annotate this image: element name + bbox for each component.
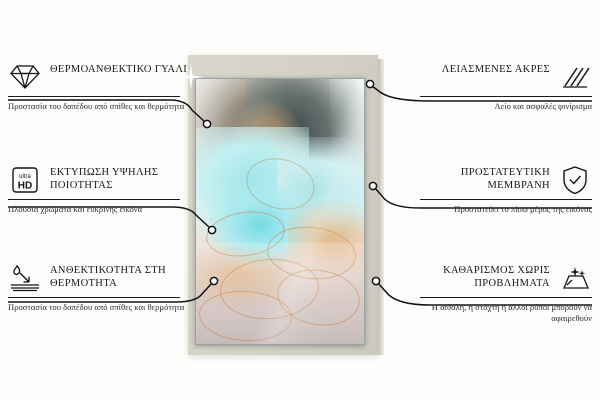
feature-description: Προστασία του δαπέδου από σπίθες και θερ… [8, 302, 190, 313]
feature-description: Η αιθάλη, η στάχτη ή άλλοι ρύποι μπορούν… [410, 302, 592, 324]
feature-title: ΑΝΘΕΚΤΙΚΟΤΗΤΑ ΣΤΗ ΘΕΡΜΟΤΗΤΑ [50, 263, 190, 290]
divider [8, 96, 180, 97]
feature-description: Προστατεύει το πίσω μέρος της εικόνας [410, 204, 592, 215]
feature-heat-resistant-glass[interactable]: ΘΕΡΜΟΑΝΘΕΚΤΙΚΟ ΓΥΑΛΙ Προστασία του δαπέδ… [8, 62, 190, 112]
feature-description: Πλούσια χρώματα και ευκρινής εικόνα [8, 204, 190, 215]
infographic-canvas: ΘΕΡΜΟΑΝΘΕΚΤΙΚΟ ΓΥΑΛΙ Προστασία του δαπέδ… [0, 0, 600, 400]
feature-description: Προστασία του δαπέδου από σπίθες και θερ… [8, 101, 190, 112]
feature-title: ΘΕΡΜΟΑΝΘΕΚΤΙΚΟ ΓΥΑΛΙ [50, 62, 187, 77]
feature-description: Λείο και ασφαλές φινίρισμα [410, 101, 592, 112]
ultra-hd-icon: ultra HD [8, 165, 42, 195]
divider [420, 96, 592, 97]
feature-heat-durability[interactable]: ΑΝΘΕΚΤΙΚΟΤΗΤΑ ΣΤΗ ΘΕΡΜΟΤΗΤΑ Προστασία το… [8, 263, 190, 313]
feature-protective-film[interactable]: ΠΡΟΣΤΑΤΕΥΤΙΚΗ ΜΕΜΒΡΑΝΗ Προστατεύει το πί… [410, 165, 592, 215]
glass-reflection [196, 79, 364, 344]
flame-deflect-icon [8, 263, 42, 293]
feature-high-quality-print[interactable]: ultra HD ΕΚΤΥΠΩΣΗ ΥΨΗΛΗΣ ΠΟΙΟΤΗΤΑΣ Πλούσ… [8, 165, 190, 215]
feature-title: ΕΚΤΥΠΩΣΗ ΥΨΗΛΗΣ ΠΟΙΟΤΗΤΑΣ [50, 165, 190, 192]
svg-text:HD: HD [18, 181, 32, 192]
diamond-icon [8, 62, 42, 92]
glass-reflection-secondary [196, 243, 364, 301]
product-artwork [196, 79, 364, 344]
feature-polished-edges[interactable]: ΛΕΙΑΣΜΕΝΕΣ ΑΚΡΕΣ Λείο και ασφαλές φινίρι… [410, 62, 592, 112]
sparkle-clean-icon [558, 263, 592, 293]
feature-title: ΠΡΟΣΤΑΤΕΥΤΙΚΗ ΜΕΜΒΡΑΝΗ [410, 165, 550, 192]
feature-easy-cleaning[interactable]: ΚΑΘΑΡΙΣΜΟΣ ΧΩΡΙΣ ΠΡΟΒΛΗΜΑΤΑ Η αιθάλη, η … [410, 263, 592, 324]
divider [420, 199, 592, 200]
shield-check-icon [558, 165, 592, 195]
divider [8, 199, 180, 200]
divider [420, 297, 592, 298]
divider [8, 297, 180, 298]
feature-title: ΛΕΙΑΣΜΕΝΕΣ ΑΚΡΕΣ [442, 62, 550, 77]
product-glass-panel [195, 78, 365, 345]
feature-title: ΚΑΘΑΡΙΣΜΟΣ ΧΩΡΙΣ ΠΡΟΒΛΗΜΑΤΑ [410, 263, 550, 290]
svg-text:ultra: ultra [19, 174, 31, 180]
polished-edge-icon [558, 62, 592, 92]
